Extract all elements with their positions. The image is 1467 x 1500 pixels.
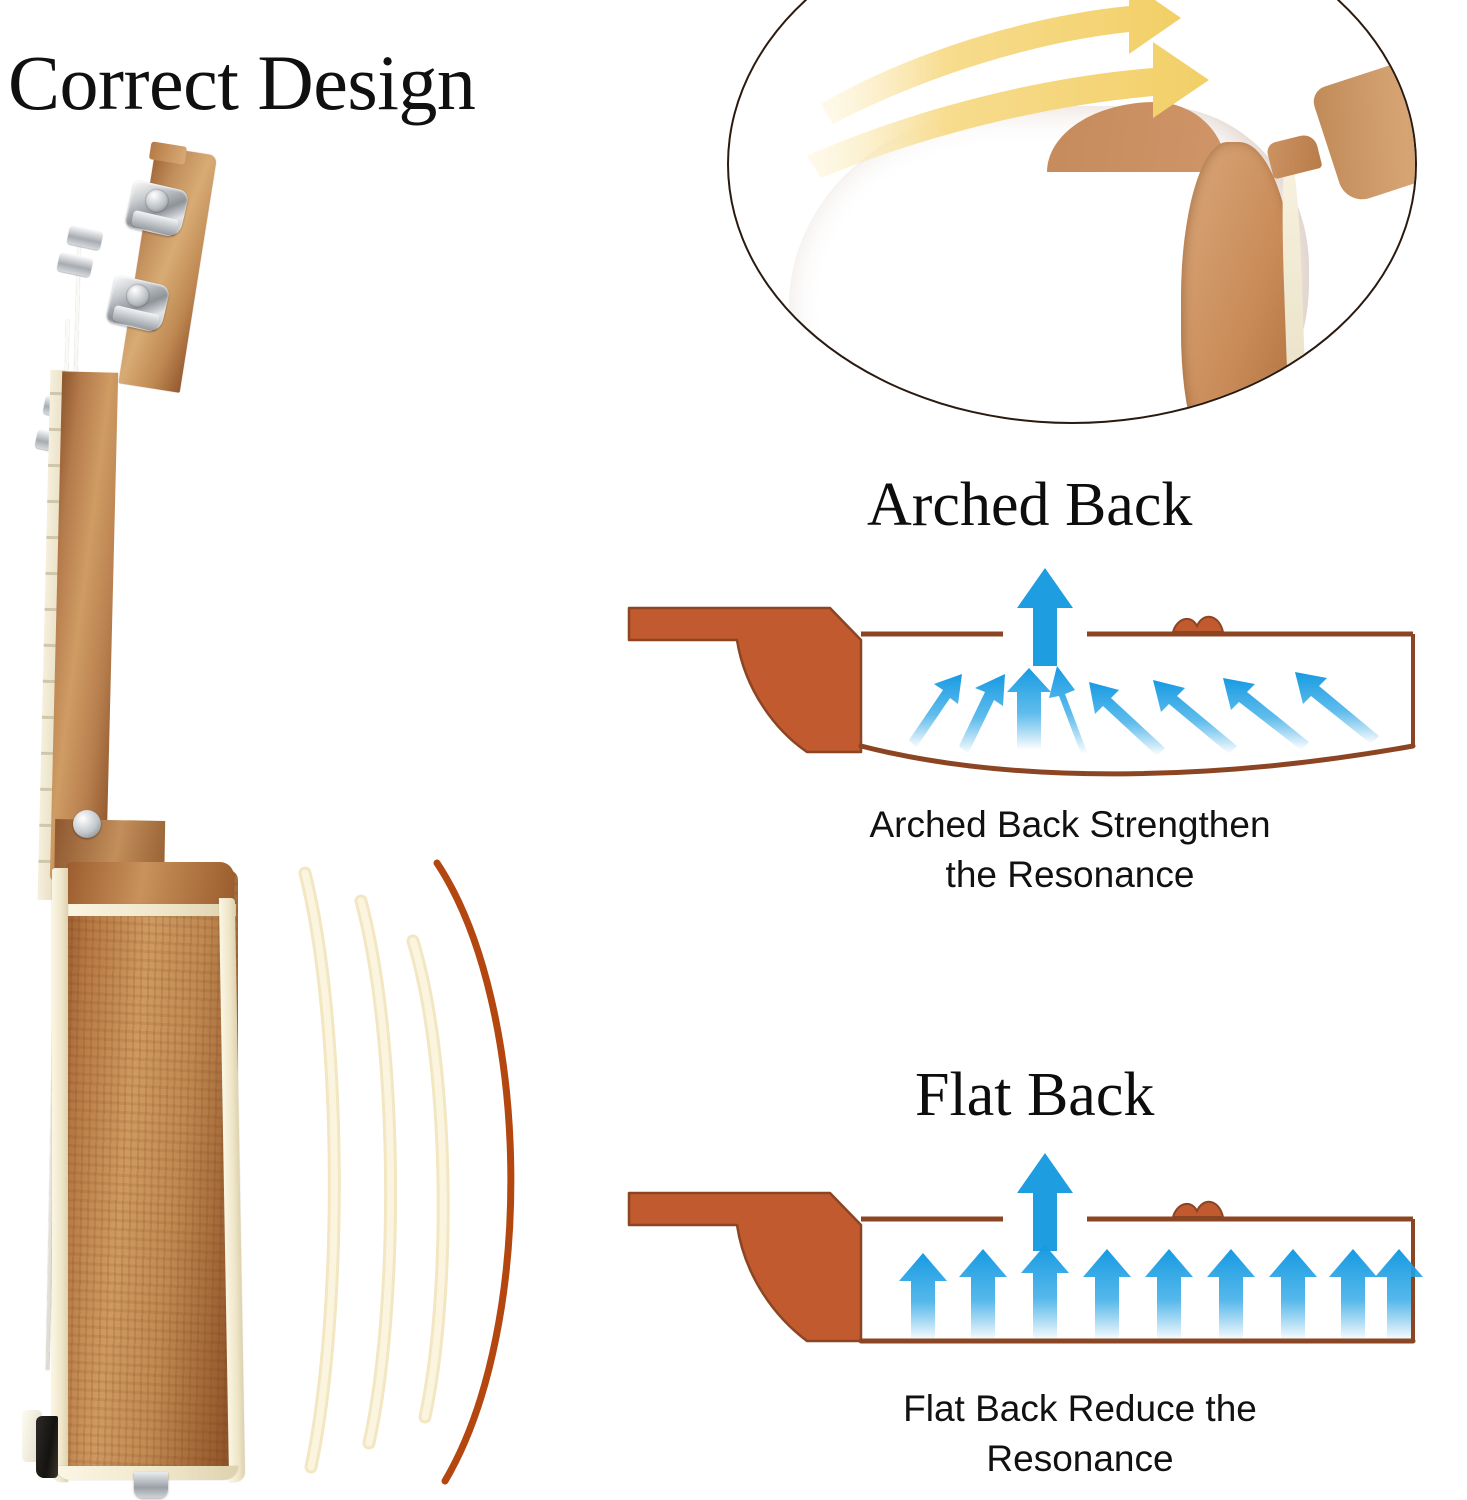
resonance-output-arrow-arched [1017,568,1073,666]
sound-wave-arcs [285,855,555,1485]
arched-back-caption-line1: Arched Back Strengthen [760,800,1380,850]
converging-arrow-6 [1153,680,1237,754]
tuner-post-2 [112,305,160,331]
arched-back-closeup-inset [727,0,1417,424]
parallel-arrow-3 [1021,1245,1069,1341]
tuner-knob-1 [142,186,171,215]
bridge-flat [1173,1202,1223,1217]
arched-back-caption: Arched Back Strengthen the Resonance [760,800,1380,900]
converging-arrow-3 [1007,668,1051,750]
converging-arrow-7 [1223,678,1309,750]
sound-wave-arrows-group [729,0,1417,424]
arched-back-curve [861,746,1413,774]
parallel-arrows [899,1245,1423,1341]
parallel-arrow-6 [1207,1249,1255,1341]
arched-back-diagram [625,570,1425,790]
endpin-strap-button [134,1472,168,1498]
arc-cream-3 [413,941,443,1417]
parallel-arrow-2 [959,1249,1007,1341]
arched-back-heading: Arched Back [867,470,1192,541]
binding-left [52,868,68,1482]
tuner-post-1 [131,210,179,236]
neck [50,371,118,882]
infographic-page: Correct Design [0,0,1467,1500]
converging-arrow-8 [1295,672,1379,744]
parallel-arrow-7 [1269,1249,1317,1341]
converging-arrow-1 [909,674,962,748]
flat-back-heading: Flat Back [915,1060,1154,1131]
parallel-arrow-5 [1145,1249,1193,1341]
resonance-output-arrow-flat [1017,1153,1073,1251]
arc-cream-2 [361,901,391,1443]
parallel-arrow-1 [899,1253,947,1341]
flat-back-diagram [625,1155,1425,1375]
converging-arrow-2 [959,674,1005,754]
page-title: Correct Design [8,42,475,124]
string-post-clamp-1 [66,225,103,251]
tuner-knob-2 [123,281,152,310]
converging-arrows [909,666,1379,756]
flat-back-caption: Flat Back Reduce the Resonance [770,1384,1390,1484]
flat-back-caption-line2: Resonance [770,1434,1390,1484]
parallel-arrow-8 [1329,1249,1377,1341]
wave-arrow-lower [807,42,1209,178]
converging-arrow-5 [1089,682,1165,756]
bridge-black [36,1416,58,1478]
flat-back-caption-line1: Flat Back Reduce the [770,1384,1390,1434]
strap-button-heel [73,810,101,838]
string-post-clamp-2 [56,252,93,278]
parallel-arrow-9 [1375,1249,1423,1341]
body-upper-block [66,862,234,910]
neck-block-arched [629,608,861,752]
headstock [118,146,217,393]
converging-arrow-4 [1049,666,1087,754]
binding-top [60,904,236,916]
bridge-arched [1173,617,1223,632]
arched-back-caption-line2: the Resonance [760,850,1380,900]
parallel-arrow-4 [1083,1249,1131,1341]
body-side-wood [58,870,238,1480]
arc-cream-1 [305,873,334,1467]
neck-block-flat [629,1193,861,1341]
